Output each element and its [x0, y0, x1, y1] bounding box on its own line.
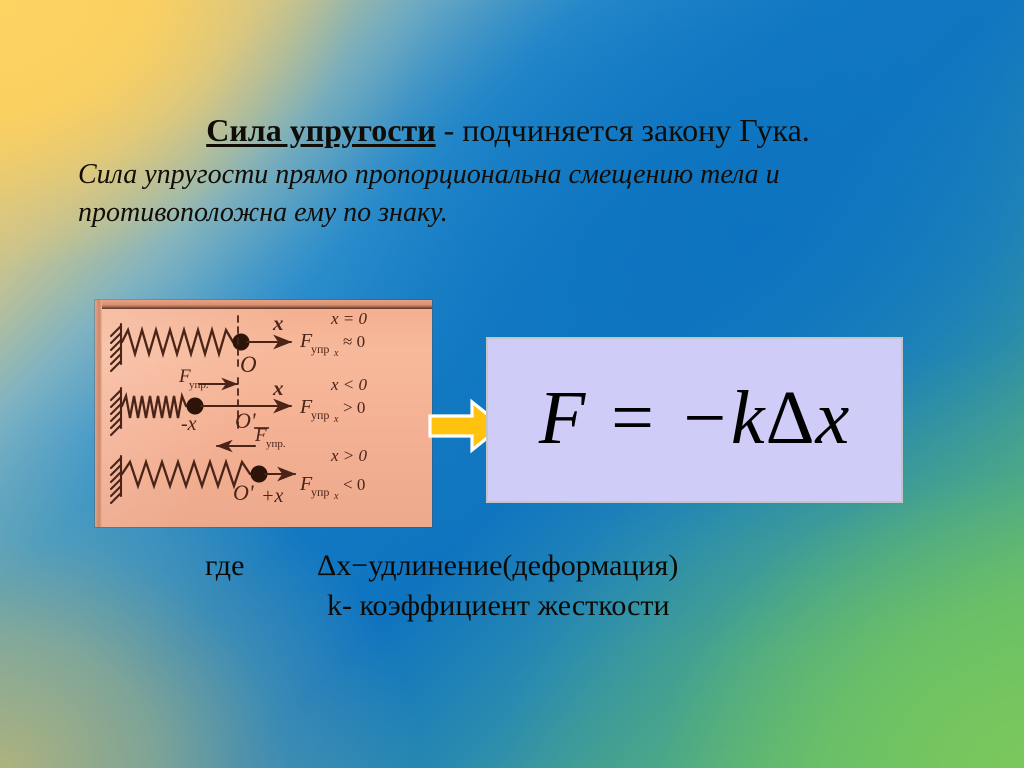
- svg-text:x: x: [272, 376, 284, 400]
- hookes-law-formula-box: F = −kΔx: [486, 337, 903, 503]
- formula-rhs: −k: [679, 376, 766, 460]
- svg-text:x > 0: x > 0: [330, 446, 368, 465]
- svg-text:< 0: < 0: [343, 475, 365, 494]
- svg-text:O: O: [240, 352, 257, 377]
- svg-text:O': O': [233, 480, 254, 505]
- svg-text:+x: +x: [261, 485, 283, 507]
- figure-drawing: x O x = 0 F упр x ≈ 0 x F упр. -x O' x <…: [95, 300, 432, 527]
- slide-title-predicate: - подчиняется закону Гука.: [436, 112, 810, 148]
- formula-delta: Δ: [766, 376, 816, 460]
- svg-text:x: x: [333, 491, 339, 502]
- svg-text:x = 0: x = 0: [330, 309, 368, 328]
- legend-gde-label: где: [205, 546, 317, 586]
- hookes-law-formula: F = −kΔx: [539, 380, 850, 456]
- formula-legend: где Δx−удлинение(деформация) k- коэффици…: [205, 546, 905, 625]
- legend-k-definition: k- коэффициент жесткости: [327, 586, 905, 626]
- formula-equals: =: [586, 376, 678, 460]
- svg-text:≈ 0: ≈ 0: [343, 332, 365, 351]
- svg-text:упр: упр: [311, 485, 329, 499]
- slide-title: Сила упругости - подчиняется закону Гука…: [78, 112, 968, 150]
- svg-text:-x: -x: [181, 413, 197, 435]
- svg-text:упр.: упр.: [266, 438, 286, 450]
- svg-text:упр: упр: [311, 408, 329, 422]
- legend-delta-x-definition: Δx−удлинение(деформация): [317, 546, 678, 586]
- svg-text:x < 0: x < 0: [330, 375, 368, 394]
- svg-text:O': O': [235, 408, 256, 433]
- heading-block: Сила упругости - подчиняется закону Гука…: [78, 112, 968, 232]
- slide-canvas: Сила упругости - подчиняется закону Гука…: [0, 0, 1024, 768]
- slide-subtitle: Сила упругости прямо пропорциональна сме…: [78, 156, 968, 232]
- formula-lhs: F: [539, 376, 586, 460]
- legend-line-1: где Δx−удлинение(деформация): [205, 546, 905, 586]
- svg-text:x: x: [333, 348, 339, 359]
- formula-variable: x: [815, 376, 850, 460]
- svg-text:упр.: упр.: [189, 379, 209, 391]
- hookes-law-figure: x O x = 0 F упр x ≈ 0 x F упр. -x O' x <…: [95, 300, 432, 527]
- slide-title-term: Сила упругости: [206, 112, 435, 148]
- svg-text:упр: упр: [311, 342, 329, 356]
- svg-text:x: x: [333, 414, 339, 425]
- svg-text:x: x: [272, 311, 284, 335]
- svg-text:> 0: > 0: [343, 398, 365, 417]
